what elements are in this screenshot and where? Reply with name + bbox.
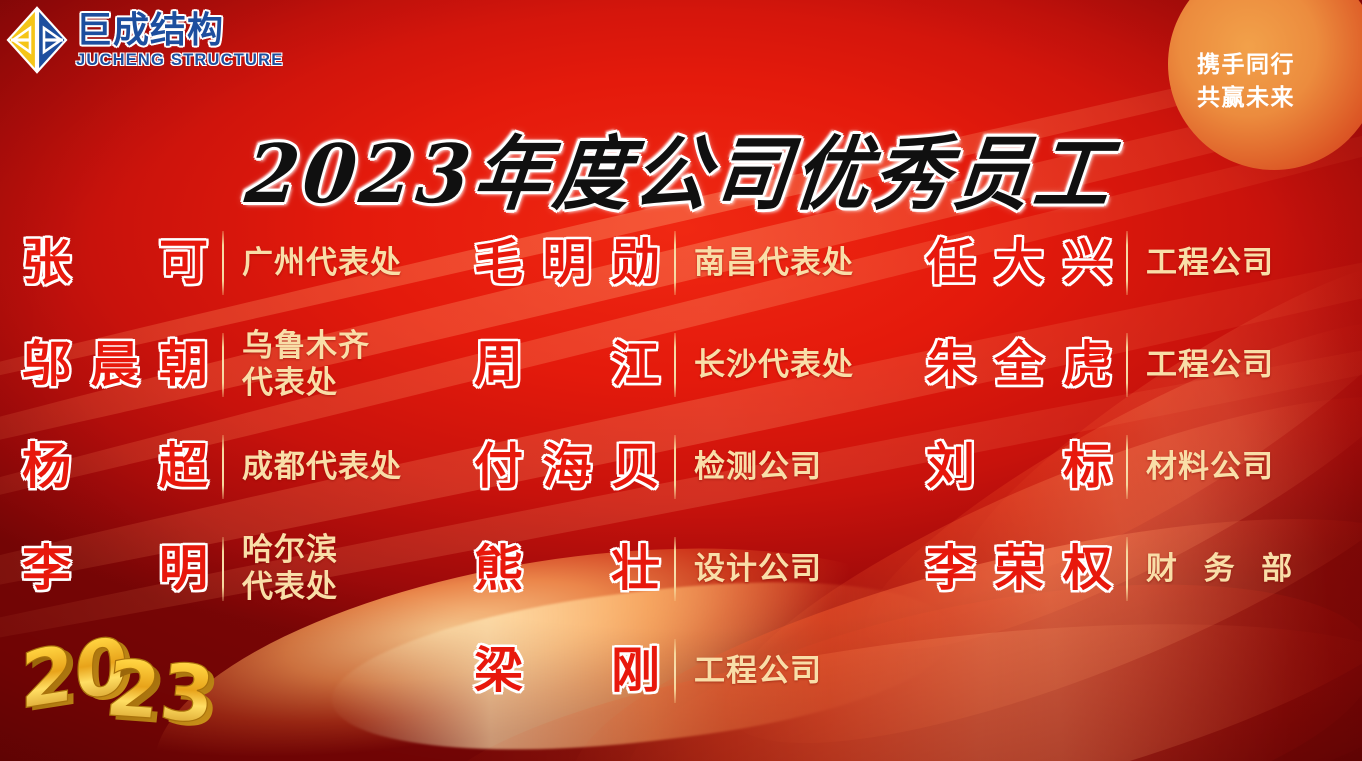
- column-divider: [222, 435, 224, 499]
- honoree-cell: 梁刚工程公司: [452, 620, 904, 722]
- poster-canvas: 携手同行 共赢未来 巨成结构 JUCHENG STRUCTURE 2023年度公…: [0, 0, 1362, 761]
- honoree-name: 朱全虎: [926, 341, 1112, 390]
- column-divider: [674, 231, 676, 295]
- column-divider: [1126, 537, 1128, 601]
- slogan-line-1: 携手同行: [1182, 48, 1310, 81]
- honoree-name: 梁刚: [474, 647, 660, 696]
- honoree-department: 设计公司: [694, 551, 822, 588]
- honoree-cell: 李明哈尔滨 代表处: [0, 518, 452, 620]
- honoree-name: 李明: [22, 545, 208, 594]
- honoree-name: 刘标: [926, 443, 1112, 492]
- honoree-cell: 付海贝检测公司: [452, 416, 904, 518]
- honoree-department: 乌鲁木齐 代表处: [242, 328, 370, 401]
- column-divider: [674, 333, 676, 397]
- honoree-department: 工程公司: [694, 653, 822, 690]
- honoree-department: 长沙代表处: [694, 347, 854, 384]
- honoree-department: 广州代表处: [242, 245, 402, 282]
- column-divider: [674, 639, 676, 703]
- column-divider: [1126, 435, 1128, 499]
- honoree-name: 杨超: [22, 443, 208, 492]
- honoree-name: 毛明勋: [474, 239, 660, 288]
- honoree-name: 邬晨朝: [22, 341, 208, 390]
- honoree-department: 财 务 部: [1146, 551, 1301, 588]
- honoree-cell: 刘标材料公司: [904, 416, 1362, 518]
- honoree-department: 工程公司: [1146, 245, 1274, 282]
- honoree-name: 任大兴: [926, 239, 1112, 288]
- honoree-department: 材料公司: [1146, 449, 1274, 486]
- column-divider: [1126, 231, 1128, 295]
- honoree-department: 哈尔滨 代表处: [242, 532, 338, 605]
- honoree-department: 南昌代表处: [694, 245, 854, 282]
- column-divider: [1126, 333, 1128, 397]
- page-title: 2023年度公司优秀员工: [0, 109, 1362, 226]
- column-divider: [222, 537, 224, 601]
- honoree-cell: 朱全虎工程公司: [904, 314, 1362, 416]
- honoree-cell: 张可广州代表处: [0, 212, 452, 314]
- honoree-cell: 杨超成都代表处: [0, 416, 452, 518]
- gold-2023-decor-icon: 20 20 23 23: [16, 617, 226, 737]
- honoree-cell: 邬晨朝乌鲁木齐 代表处: [0, 314, 452, 416]
- honoree-cell: 李荣权财 务 部: [904, 518, 1362, 620]
- honoree-name: 周江: [474, 341, 660, 390]
- honoree-department: 工程公司: [1146, 347, 1274, 384]
- company-slogan: 携手同行 共赢未来: [1182, 48, 1310, 113]
- honoree-name: 熊壮: [474, 545, 660, 594]
- honoree-department: 检测公司: [694, 449, 822, 486]
- jucheng-diamond-logo-icon: [6, 6, 68, 74]
- honoree-cell: 任大兴工程公司: [904, 212, 1362, 314]
- honoree-name: 付海贝: [474, 443, 660, 492]
- column-divider: [674, 435, 676, 499]
- honoree-cell: 毛明勋南昌代表处: [452, 212, 904, 314]
- honoree-name: 李荣权: [926, 545, 1112, 594]
- honoree-name: 张可: [22, 239, 208, 288]
- company-logo: 巨成结构 JUCHENG STRUCTURE: [6, 6, 283, 74]
- honoree-cell: 熊壮设计公司: [452, 518, 904, 620]
- column-divider: [222, 333, 224, 397]
- logo-name-cn: 巨成结构: [76, 12, 283, 48]
- honoree-department: 成都代表处: [242, 449, 402, 486]
- column-divider: [222, 231, 224, 295]
- logo-name-en: JUCHENG STRUCTURE: [76, 52, 283, 69]
- honoree-cell: 周江长沙代表处: [452, 314, 904, 416]
- column-divider: [674, 537, 676, 601]
- svg-text:23: 23: [102, 644, 219, 737]
